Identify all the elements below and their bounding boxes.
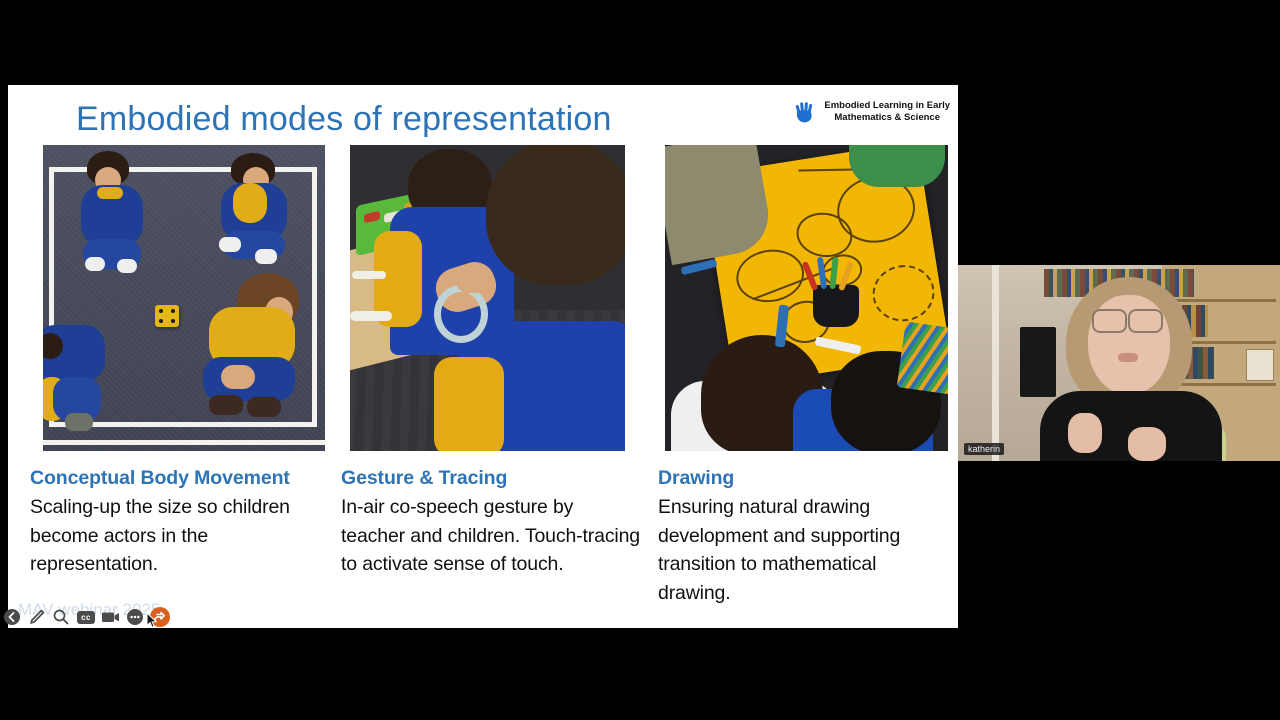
zoom-button[interactable] [49, 604, 74, 630]
yellow-die [155, 305, 179, 327]
page-title: Embodied modes of representation [76, 100, 612, 139]
logo-line-2: Mathematics & Science [824, 112, 950, 124]
captions-button[interactable]: cc [74, 604, 99, 630]
caption-drawing: Drawing Ensuring natural drawing develop… [658, 467, 950, 607]
logo-text: Embodied Learning in Early Mathematics &… [824, 100, 950, 124]
share-button[interactable] [147, 604, 172, 630]
annotate-button[interactable] [25, 604, 50, 630]
blue-hand-icon [792, 99, 818, 125]
caption-heading: Drawing [658, 467, 950, 490]
caption-body: In-air co-speech gesture by teacher and … [341, 493, 641, 579]
presentation-slide[interactable]: Embodied modes of representation Embodie… [8, 85, 958, 628]
caption-body: Ensuring natural drawing development and… [658, 493, 950, 607]
back-button[interactable] [0, 604, 25, 630]
video-player-stage: Embodied modes of representation Embodie… [0, 0, 1280, 720]
photo-conceptual-body-movement [43, 145, 325, 451]
participant-name-badge: katherin [964, 443, 1004, 455]
caption-gesture-and-tracing: Gesture & Tracing In-air co-speech gestu… [341, 467, 641, 579]
photo-drawing [665, 145, 948, 451]
player-toolbar[interactable]: cc [0, 604, 172, 630]
photo-row [43, 145, 923, 455]
caption-heading: Gesture & Tracing [341, 467, 641, 490]
caption-body: Scaling-up the size so children become a… [30, 493, 330, 579]
caption-heading: Conceptual Body Movement [30, 467, 330, 490]
share-arrow-icon [150, 607, 170, 627]
webcam-tile[interactable]: katherin [958, 265, 1280, 461]
more-button[interactable] [123, 604, 148, 630]
cc-icon: cc [77, 611, 95, 624]
project-logo: Embodied Learning in Early Mathematics &… [792, 99, 950, 125]
photo-gesture-and-tracing [350, 145, 625, 451]
caption-conceptual-body-movement: Conceptual Body Movement Scaling-up the … [30, 467, 330, 579]
video-button[interactable] [98, 604, 123, 630]
logo-line-1: Embodied Learning in Early [824, 100, 950, 112]
